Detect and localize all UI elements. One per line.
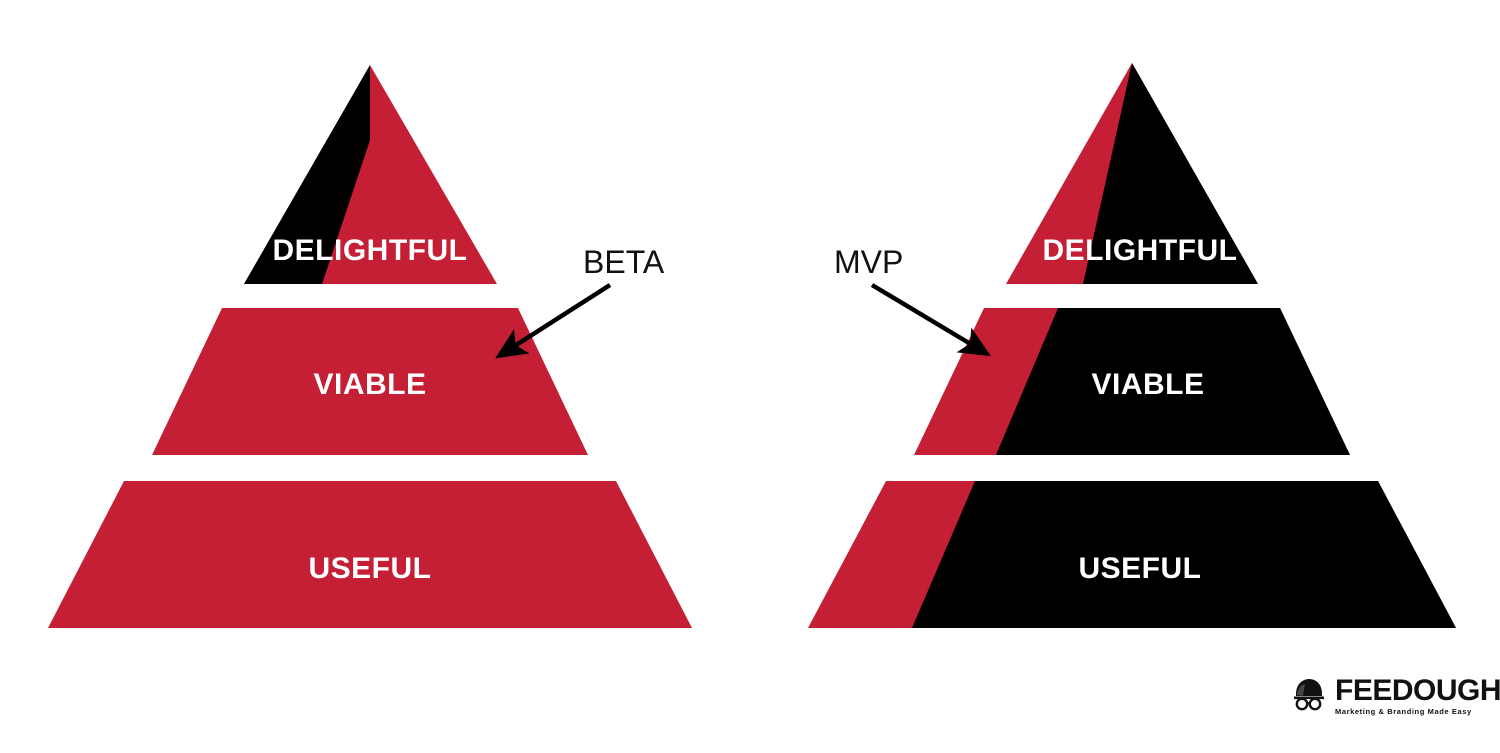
left-tier-useful-label: USEFUL	[309, 552, 432, 585]
left-pyramid-tier-viable[interactable]: VIABLE	[152, 308, 588, 455]
mvp-callout-arrow	[872, 285, 984, 352]
left-pyramid-tier-useful[interactable]: USEFUL	[48, 481, 692, 628]
right-pyramid-tier-viable[interactable]: VIABLE	[914, 308, 1350, 455]
logo-text-block: FEEDOUGH .COM Marketing & Branding Made …	[1335, 677, 1500, 715]
right-pyramid-callout-mvp[interactable]: MVP	[834, 244, 984, 352]
right-tier-delightful-label: DELIGHTFUL	[1043, 234, 1238, 267]
logo-tagline: Marketing & Branding Made Easy	[1335, 708, 1500, 716]
right-pyramid-tier-useful[interactable]: USEFUL	[808, 481, 1456, 628]
diagram-canvas: DELIGHTFUL VIABLE USEFUL BETA	[0, 0, 1500, 753]
left-tier-viable-label: VIABLE	[313, 368, 426, 401]
right-pyramid: DELIGHTFUL VIABLE USEFUL MVP	[808, 63, 1456, 628]
feedough-logo: FEEDOUGH .COM Marketing & Branding Made …	[1288, 668, 1468, 724]
left-pyramid-tier-delightful[interactable]: DELIGHTFUL	[244, 65, 497, 284]
logo-word-row: FEEDOUGH .COM	[1335, 677, 1500, 706]
right-pyramid-tier-delightful[interactable]: DELIGHTFUL	[1006, 63, 1258, 284]
left-pyramid: DELIGHTFUL VIABLE USEFUL BETA	[48, 65, 692, 628]
right-tier-useful-label: USEFUL	[1079, 552, 1202, 585]
pyramid-comparison-diagram: DELIGHTFUL VIABLE USEFUL BETA	[0, 0, 1500, 753]
left-tier-delightful-label: DELIGHTFUL	[273, 234, 468, 267]
mvp-callout-label: MVP	[834, 244, 903, 280]
beta-callout-label: BETA	[583, 244, 665, 280]
right-tier-viable-label: VIABLE	[1091, 368, 1204, 401]
logo-wordmark: FEEDOUGH	[1335, 677, 1500, 706]
left-pyramid-callout-beta[interactable]: BETA	[502, 244, 665, 354]
logo-face-icon	[1288, 675, 1330, 717]
